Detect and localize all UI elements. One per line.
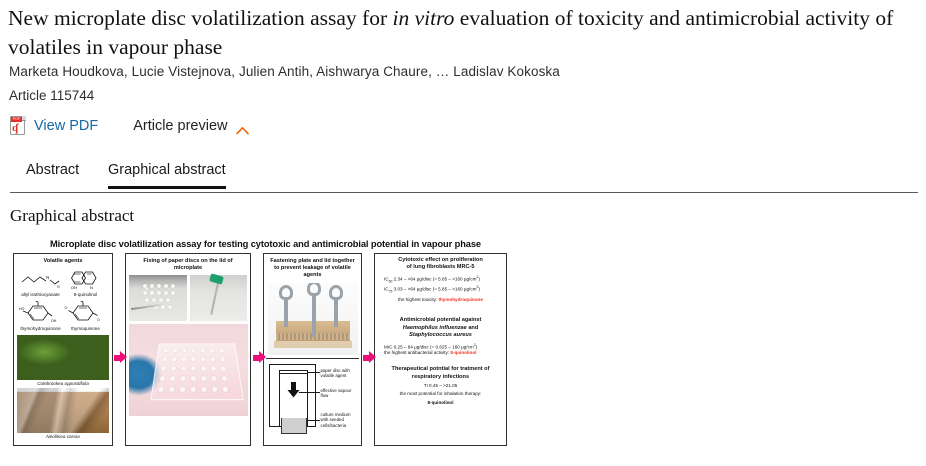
pdf-icon: ʠ PDF: [10, 116, 27, 137]
organism-name-2: Staphylococcus aureus: [409, 332, 472, 338]
result-title-mid: and: [467, 325, 479, 331]
compound-item: N S allyl isothiocyanate: [18, 266, 63, 300]
diagram-label: paper disc with volatile agent: [321, 368, 359, 379]
panel-fastening-plate-title: Fastening plate and lid together to prev…: [266, 256, 359, 281]
disc-dots: [141, 284, 179, 314]
page-title: New microplate disc volatilization assay…: [8, 4, 918, 62]
thymohydroquinone-structure-icon: HO OH: [18, 300, 63, 326]
panel-divider: [266, 358, 359, 359]
result-title-line1: Therapeutical potntial for tratment of: [392, 366, 490, 372]
preview-tabs: Abstract Graphical abstract: [10, 162, 916, 192]
result-block-antimicrobial: Antimicrobial potential against Haemophi…: [377, 316, 504, 357]
mic-summary: the highest antibacterial activity: 8-qu…: [384, 350, 501, 356]
document-actions: ʠ PDF View PDF Article preview: [10, 114, 249, 138]
compound-item: HO OH thymohydroquinone: [18, 300, 63, 334]
result-summary-highlight: thymohydroquinone: [438, 297, 482, 302]
flow-arrow-icon: [253, 351, 266, 364]
result-title: Antimicrobial potential against Haemophi…: [380, 317, 501, 339]
mic-tail: ): [476, 344, 478, 349]
article-page: New microplate disc volatilization assay…: [0, 0, 926, 466]
svg-text:O: O: [97, 318, 100, 322]
result-summary-prefix: the highest antibacterial activity:: [384, 350, 450, 355]
lid-with-discs-photo: [129, 275, 187, 321]
compound-name: 8-quinolinol: [63, 292, 108, 298]
svg-text:N: N: [46, 275, 49, 280]
page-title-part1: New microplate disc volatilization assay…: [8, 6, 393, 30]
tabs-divider: [10, 192, 918, 193]
species-name: Colebrookea oppositifolia: [16, 381, 110, 387]
ic75-value: 3.03 – >64 µg/disc (= 5.85 – >160 µg/cm: [392, 287, 476, 292]
article-preview-label: Article preview: [133, 118, 227, 134]
result-title-line2: respiratory infections: [412, 374, 469, 380]
figure-panels: Volatile agents N S allyl isothiocyanate: [13, 253, 518, 446]
ic50-tail: ): [478, 276, 480, 281]
pdf-icon-tag: PDF: [11, 117, 22, 122]
article-preview-toggle[interactable]: Article preview: [133, 118, 249, 134]
result-summary-prefix: the most potential for inhalation therap…: [380, 391, 501, 397]
photo-row: [129, 275, 247, 321]
svg-text:N: N: [90, 285, 93, 290]
diagram-label: effective vapour flow: [321, 388, 359, 399]
plant-photo-neolitsea: [17, 388, 109, 433]
svg-text:HO: HO: [19, 307, 25, 311]
compound-item: O O thymoquinone: [63, 300, 108, 334]
organism-name-1: Haemophilus influenzae: [403, 325, 467, 331]
8-quinolinol-structure-icon: N OH: [63, 266, 108, 292]
compound-item: N OH 8-quinolinol: [63, 266, 108, 300]
tweezers-photo: [190, 275, 248, 321]
result-title-line2: of lung fibroblasts MRC-5: [406, 264, 474, 270]
panel-volatile-agents-title: Volatile agents: [16, 256, 110, 266]
article-number: Article 115744: [9, 88, 94, 103]
panel-fixing-discs-title: Fixing of paper discs on the lid of micr…: [128, 256, 248, 273]
flow-arrow-icon: [363, 351, 376, 364]
graphical-abstract-heading: Graphical abstract: [10, 206, 134, 226]
mic-line: MIC 0.25 – 64 µg/disc (= 0.625 – 160 µg/…: [384, 342, 501, 351]
result-block-therapeutic: Therapeutical potntial for tratment of r…: [377, 365, 504, 406]
panel-results: Cytotoxic effect on proliferation of lun…: [374, 253, 507, 446]
ic75-line: IC75 3.03 – >64 µg/disc (= 5.85 – >160 µ…: [384, 284, 501, 295]
graphical-abstract-figure[interactable]: Microplate disc volatilization assay for…: [13, 238, 518, 450]
result-title-line1: Cytotoxic effect on proliferation: [398, 257, 483, 263]
chevron-up-icon: [236, 122, 249, 131]
diagram-label: culture medium with seeded cells/bacteri…: [321, 412, 359, 429]
result-title-line1: Antimicrobial potential against: [400, 317, 482, 323]
compound-name: thymohydroquinone: [18, 326, 63, 332]
page-title-italic: in vitro: [393, 6, 455, 30]
result-values: IC50 2.34 – >64 µg/disc (= 5.85 – >160 µ…: [380, 274, 501, 295]
result-summary: the highest toxicity: thymohydroquinone: [380, 297, 501, 303]
result-summary-highlight: 8-quinolinol: [380, 400, 501, 406]
compound-name: thymoquinone: [63, 326, 108, 332]
microplate-lid-photo: [129, 324, 248, 416]
vapour-arrow-icon: [287, 382, 300, 398]
ic50-value: 2.34 – >64 µg/disc (= 5.85 – >160 µg/cm: [392, 276, 476, 281]
plant-photo-colebrookea: [17, 335, 109, 380]
panel-fastening-plate: Fastening plate and lid together to prev…: [263, 253, 362, 446]
tab-abstract[interactable]: Abstract: [26, 162, 79, 186]
ic75-tail: ): [478, 287, 480, 292]
panel-volatile-agents: Volatile agents N S allyl isothiocyanate: [13, 253, 113, 446]
svg-text:OH: OH: [51, 319, 57, 323]
thymoquinone-structure-icon: O O: [63, 300, 108, 326]
svg-text:O: O: [64, 306, 67, 310]
view-pdf-link[interactable]: View PDF: [34, 118, 98, 134]
svg-text:OH: OH: [71, 285, 77, 290]
result-summary-prefix: the highest toxicity:: [398, 297, 438, 302]
flow-arrow-icon: [114, 351, 127, 364]
result-title: Therapeutical potntial for tratment of r…: [380, 366, 501, 381]
compound-grid: N S allyl isothiocyanate: [16, 266, 110, 334]
panel-fixing-discs: Fixing of paper discs on the lid of micr…: [125, 253, 251, 446]
microplate: [150, 344, 243, 401]
result-summary-highlight: 8-quinolinol: [450, 350, 476, 355]
svg-text:S: S: [57, 284, 60, 289]
ic50-line: IC50 2.34 – >64 µg/disc (= 5.85 – >160 µ…: [384, 274, 501, 285]
result-values: MIC 0.25 – 64 µg/disc (= 0.625 – 160 µg/…: [380, 342, 501, 357]
mic-value: MIC 0.25 – 64 µg/disc (= 0.625 – 160 µg/…: [384, 344, 474, 349]
vapour-flow-diagram: paper disc with volatile agent effective…: [267, 362, 359, 450]
clamped-plate-photo: [268, 283, 358, 355]
species-name: Neolitsea cassia: [16, 434, 110, 440]
figure-title: Microplate disc volatilization assay for…: [13, 238, 518, 250]
ti-value: TI 0.45 – >21.05: [380, 383, 501, 389]
allyl-isothiocyanate-structure-icon: N S: [18, 266, 63, 292]
result-title: Cytotoxic effect on proliferation of lun…: [380, 257, 501, 272]
compound-name: allyl isothiocyanate: [18, 292, 63, 298]
tab-graphical-abstract[interactable]: Graphical abstract: [108, 162, 226, 189]
result-block-cytotoxicity: Cytotoxic effect on proliferation of lun…: [377, 256, 504, 304]
author-list: Marketa Houdkova, Lucie Vistejnova, Juli…: [9, 64, 560, 79]
